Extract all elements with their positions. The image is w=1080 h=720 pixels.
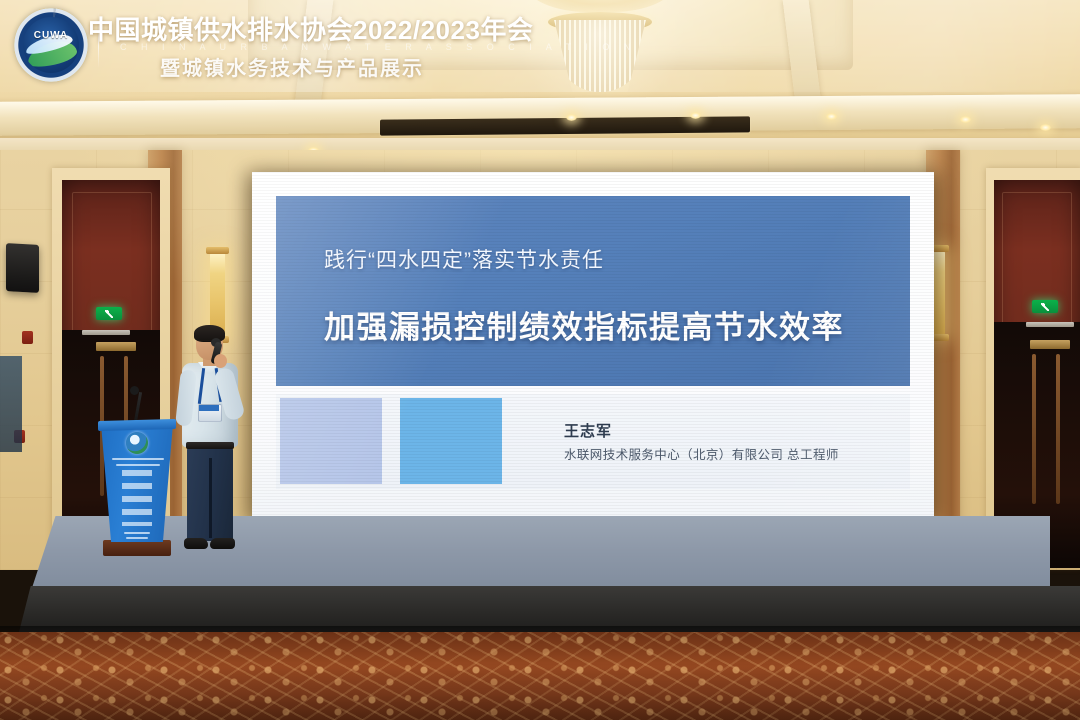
door-pull-bar-right[interactable] (1032, 354, 1036, 504)
presenter-badge-header (199, 405, 219, 411)
sky-blue-swatch (400, 398, 502, 484)
downlight (1040, 124, 1051, 131)
led-presentation-screen[interactable]: 践行“四水四定”落实节水责任 加强漏损控制绩效指标提高节水效率 王志军 水联网技… (252, 172, 934, 518)
presenter-hand (214, 354, 227, 368)
door-ornament-right (1030, 340, 1070, 349)
downlight (960, 116, 971, 123)
presenter-at-podium (176, 328, 246, 560)
exit-running-figure-icon (105, 310, 113, 318)
exit-sign-left (96, 307, 122, 320)
periwinkle-swatch (280, 398, 382, 484)
slide-hero-panel: 践行“四水四定”落实节水责任 加强漏损控制绩效指标提高节水效率 (276, 196, 910, 386)
podium-base (103, 540, 171, 556)
podium-footer-line (126, 537, 148, 539)
podium-text-line (112, 458, 164, 460)
slide-footer-panel: 王志军 水联网技术服务中心（北京）有限公司 总工程师 (276, 394, 910, 489)
presenter-affiliation: 水联网技术服务中心（北京）有限公司 总工程师 (564, 444, 839, 463)
podium-footer-line (124, 532, 150, 534)
downlight (690, 112, 701, 119)
downlight (826, 113, 837, 120)
ceiling-air-vent (380, 116, 750, 135)
door-handle-plate-right (1026, 322, 1074, 327)
exit-sign-right (1032, 300, 1058, 313)
patterned-carpet (0, 632, 1080, 720)
podium-vertical-text (122, 470, 152, 526)
chandelier (520, 0, 680, 100)
slide-kicker-text: 践行“四水四定”落实节水责任 (324, 244, 604, 274)
chandelier-crown (526, 0, 674, 12)
conference-hall-photo: 践行“四水四定”落实节水责任 加强漏损控制绩效指标提高节水效率 王志军 水联网技… (0, 0, 1080, 720)
podium-text-line (116, 464, 160, 466)
presenter-shoe-left (184, 538, 208, 549)
fire-alarm-panel[interactable] (22, 331, 33, 344)
door-handle-plate-left (82, 330, 130, 335)
downlight (566, 114, 577, 121)
chandelier-crystals (554, 20, 646, 92)
podium-microphone-head (130, 386, 139, 395)
podium-cuwa-logo-icon (126, 432, 148, 454)
presenter-belt (186, 442, 234, 449)
wall-sconce-cap-left (206, 247, 229, 254)
slide-main-title: 加强漏损控制绩效指标提高节水效率 (324, 302, 844, 347)
presenter-shoe-right (210, 538, 235, 549)
podium-top-surface (98, 419, 176, 431)
door-ornament-left (96, 342, 136, 351)
exit-running-figure-icon (1041, 303, 1049, 311)
door-pull-bar-right-2[interactable] (1056, 354, 1060, 504)
presenter-name: 王志军 (564, 420, 612, 441)
wall-decor-panel-left (0, 356, 22, 452)
presenter-leg-seam (209, 458, 212, 538)
wall-speaker-left (6, 243, 39, 293)
